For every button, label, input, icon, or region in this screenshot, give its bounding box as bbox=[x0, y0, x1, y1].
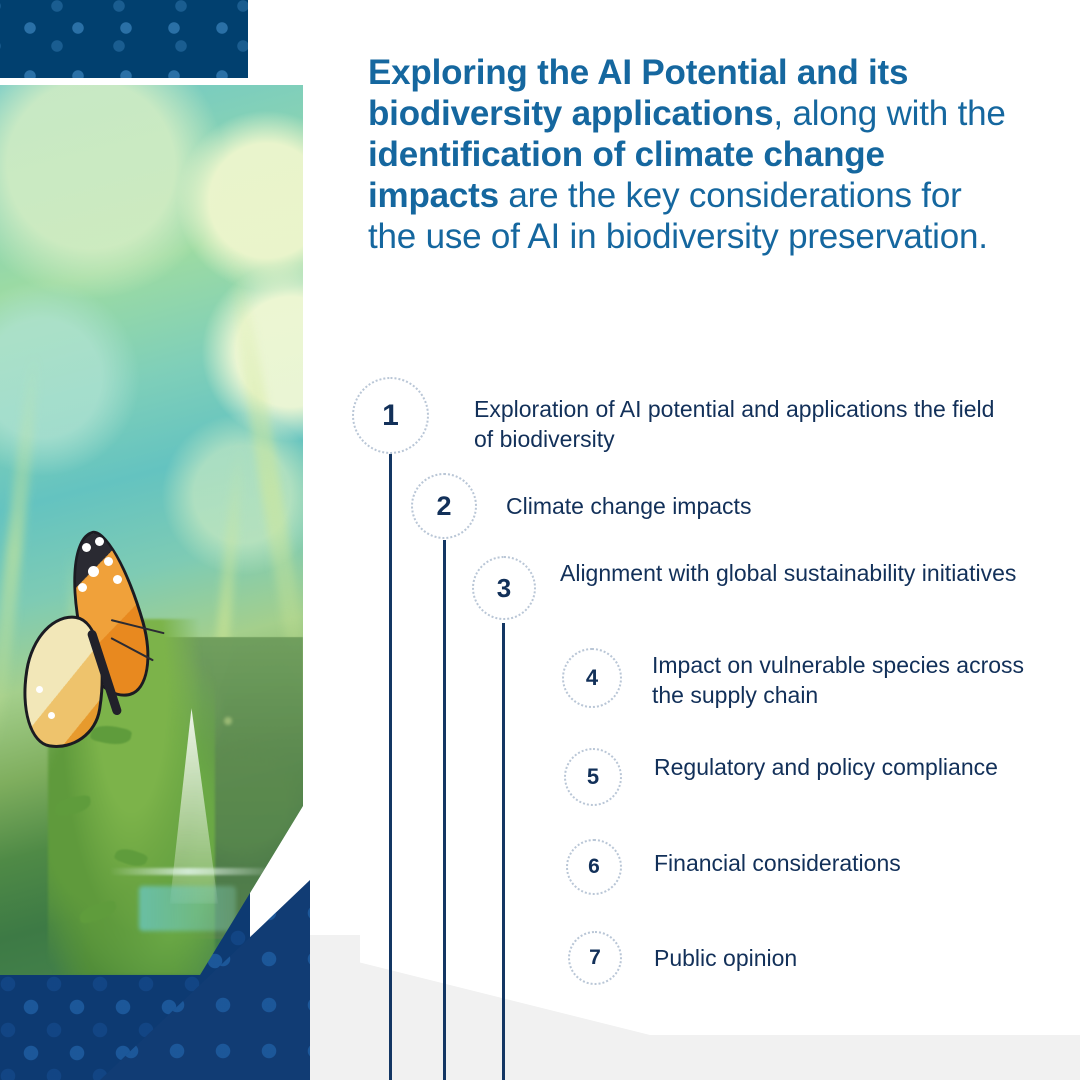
wing-spot-icon bbox=[88, 566, 99, 577]
water-pool bbox=[139, 886, 236, 931]
wing-spot-icon bbox=[36, 686, 43, 693]
list-item-label-4: Impact on vulnerable species across the … bbox=[652, 650, 1052, 710]
list-number-5: 5 bbox=[587, 764, 599, 790]
page-title: Exploring the AI Potential and its biodi… bbox=[368, 52, 1008, 257]
list-item-label-5: Regulatory and policy compliance bbox=[654, 752, 1054, 782]
list-number-4: 4 bbox=[586, 665, 598, 691]
list-number-badge-1[interactable]: 1 bbox=[352, 377, 429, 454]
navy-block-top-left bbox=[0, 0, 248, 78]
headline-plain-1: , along with the bbox=[773, 94, 1005, 133]
connector-line-2 bbox=[443, 540, 446, 1080]
butterfly-photo bbox=[0, 85, 303, 975]
butterfly-icon bbox=[24, 530, 169, 753]
list-number-badge-3[interactable]: 3 bbox=[472, 556, 536, 620]
list-number-6: 6 bbox=[588, 855, 600, 879]
list-number-3: 3 bbox=[497, 573, 511, 604]
wing-spot-icon bbox=[104, 557, 113, 566]
connector-line-1 bbox=[389, 452, 392, 1080]
wing-spot-icon bbox=[113, 575, 122, 584]
list-number-1: 1 bbox=[382, 399, 399, 433]
dot-pattern-secondary-icon bbox=[0, 0, 248, 78]
wing-spot-icon bbox=[48, 712, 55, 719]
connector-line-3 bbox=[502, 623, 505, 1080]
list-item-label-3: Alignment with global sustainability ini… bbox=[560, 558, 1020, 588]
list-item-label-2: Climate change impacts bbox=[506, 491, 1006, 521]
list-number-badge-5[interactable]: 5 bbox=[564, 748, 622, 806]
list-number-7: 7 bbox=[589, 946, 601, 970]
water-line bbox=[109, 868, 267, 875]
list-item-label-1: Exploration of AI potential and applicat… bbox=[474, 394, 1019, 454]
list-number-badge-6[interactable]: 6 bbox=[566, 839, 622, 895]
list-number-badge-4[interactable]: 4 bbox=[562, 648, 622, 708]
infographic-slide: Exploring the AI Potential and its biodi… bbox=[0, 0, 1080, 1080]
list-number-badge-2[interactable]: 2 bbox=[411, 473, 477, 539]
list-item-label-6: Financial considerations bbox=[654, 848, 1054, 878]
list-item-label-7: Public opinion bbox=[654, 943, 1054, 973]
list-number-2: 2 bbox=[436, 491, 451, 522]
list-number-badge-7[interactable]: 7 bbox=[568, 931, 622, 985]
